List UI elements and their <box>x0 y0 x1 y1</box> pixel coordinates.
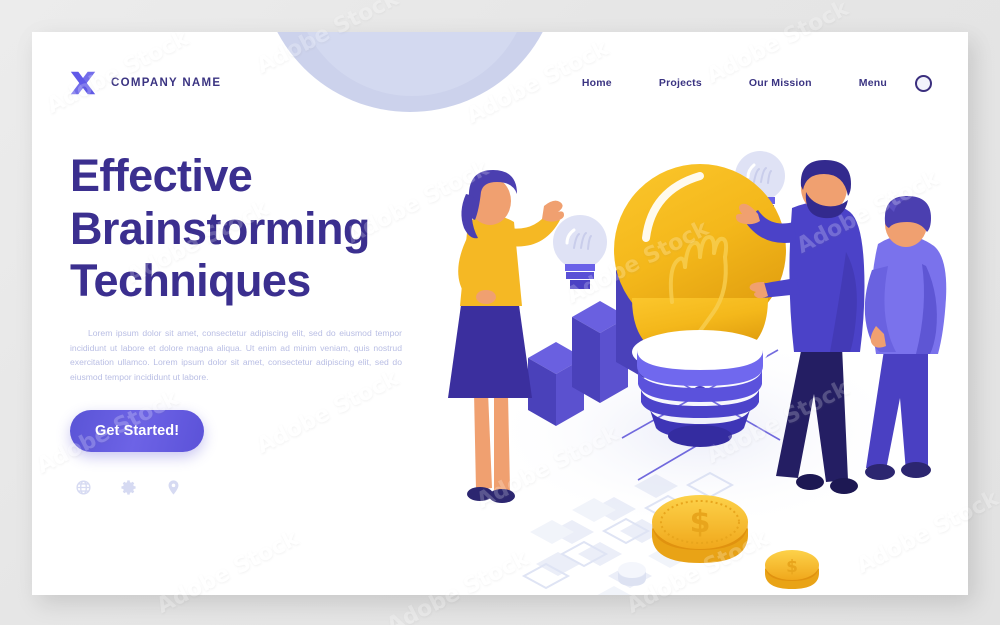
coin-dollar-symbol-small: $ <box>786 557 798 577</box>
site-header: COMPANY NAME Home Projects Our Mission M… <box>32 60 968 106</box>
get-started-button[interactable]: Get Started! <box>70 410 204 452</box>
headline-line-3: Techniques <box>70 255 311 306</box>
gold-coin-small: $ <box>765 550 819 589</box>
small-lightbulb-left <box>553 215 607 289</box>
screenshot-stage: Adobe Stock | #759728330 COMPANY NAME Ho… <box>0 0 1000 625</box>
nav-item-projects[interactable]: Projects <box>659 71 702 95</box>
small-cylinder <box>618 562 646 586</box>
hero-paragraph: Lorem ipsum dolor sit amet, consectetur … <box>70 326 402 385</box>
location-pin-icon[interactable] <box>165 479 182 496</box>
gear-icon[interactable] <box>120 479 137 496</box>
letter-x-logo-icon <box>68 68 98 98</box>
globe-icon[interactable] <box>75 479 92 496</box>
page-title: Effective Brainstorming Techniques <box>70 150 440 308</box>
hero-text-column: Effective Brainstorming Techniques Lorem… <box>70 150 440 496</box>
circle-outline-icon[interactable] <box>915 75 932 92</box>
brand-name-label: COMPANY NAME <box>111 77 221 89</box>
nav-item-home[interactable]: Home <box>582 71 612 95</box>
main-nav: Home Projects Our Mission Menu <box>535 71 932 95</box>
headline-line-1: Effective <box>70 150 252 201</box>
headline-line-2: Brainstorming <box>70 203 370 254</box>
isometric-brainstorming-illustration: $ $ <box>432 102 968 595</box>
brand-lockup[interactable]: COMPANY NAME <box>68 68 221 98</box>
nav-item-menu[interactable]: Menu <box>859 71 887 95</box>
mini-icon-row <box>70 479 440 496</box>
gold-coin-large: $ <box>652 495 748 563</box>
coin-dollar-symbol-large: $ <box>690 505 711 540</box>
nav-item-our-mission[interactable]: Our Mission <box>749 71 812 95</box>
person-man-back-view <box>865 196 946 480</box>
landing-page-card: COMPANY NAME Home Projects Our Mission M… <box>32 32 968 595</box>
